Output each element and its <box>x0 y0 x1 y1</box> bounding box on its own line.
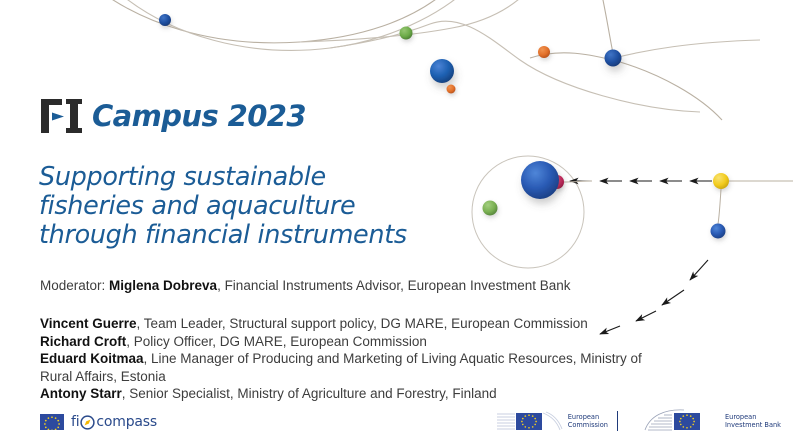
list-item: Eduard Koitmaa, Line Manager of Producin… <box>40 350 670 385</box>
speaker-role: , Policy Officer, DG MARE, European Comm… <box>126 334 427 349</box>
list-item: Antony Starr, Senior Specialist, Ministr… <box>40 385 670 403</box>
node-red-hero <box>550 175 564 189</box>
fi-triangle-logo-icon <box>40 96 88 136</box>
footer-divider <box>617 411 618 431</box>
decor-curve-right-top-out <box>614 40 760 58</box>
speaker-role: , Team Leader, Structural support policy… <box>137 316 588 331</box>
compass-icon <box>80 415 95 430</box>
node-orange-small-top <box>447 85 456 94</box>
presentation-slide: Campus 2023 Supporting sustainable fishe… <box>0 0 793 446</box>
node-blue-lower-right <box>711 224 726 239</box>
ec-emblem-icon <box>495 408 563 434</box>
list-item: Richard Croft, Policy Officer, DG MARE, … <box>40 333 670 351</box>
eu-flag-icon <box>40 414 64 430</box>
node-yellow-right <box>713 173 729 189</box>
node-green-orbit <box>483 201 498 216</box>
speaker-list: Vincent Guerre, Team Leader, Structural … <box>40 315 670 403</box>
node-blue-top-left <box>159 14 171 26</box>
moderator-line: Moderator: Miglena Dobreva, Financial In… <box>40 277 571 295</box>
speaker-name: Richard Croft <box>40 334 126 349</box>
decor-link-yellow-to-blue <box>718 189 721 224</box>
decor-curve-top-right <box>330 21 700 112</box>
page-title: Supporting sustainable fisheries and aqu… <box>39 163 469 250</box>
footer-institution-logos: European Commission <box>495 408 781 434</box>
moderator-prefix: Moderator: <box>40 278 109 293</box>
european-commission-logo: European Commission <box>495 408 618 434</box>
decor-curve-right-arc <box>530 53 722 120</box>
decor-curve-top-mid <box>300 0 534 42</box>
decor-link-hero-to-arrows <box>563 181 592 182</box>
node-blue-hero <box>521 161 559 199</box>
moderator-role: , Financial Instruments Advisor, Europea… <box>217 278 570 293</box>
decor-orbit-circle <box>472 156 584 268</box>
ficompass-text-compass: compass <box>96 415 157 429</box>
ec-label-line1: European <box>568 413 608 421</box>
speaker-role: , Senior Specialist, Ministry of Agricul… <box>122 386 497 401</box>
node-blue-right-top <box>605 50 622 67</box>
title-line-1: Supporting sustainable <box>39 163 469 192</box>
decor-curve-top-left-2 <box>118 0 472 50</box>
ficompass-logo: fi compass <box>40 414 157 430</box>
ficompass-text-fi: fi <box>71 415 79 429</box>
eib-label: European Investment Bank <box>725 413 781 429</box>
brand-logo: Campus 2023 <box>40 94 306 138</box>
eib-label-line2: Investment Bank <box>725 421 781 429</box>
title-line-2: fisheries and aquaculture <box>39 192 469 221</box>
speaker-name: Vincent Guerre <box>40 316 137 331</box>
speaker-name: Eduard Koitmaa <box>40 351 144 366</box>
node-green-top <box>400 27 413 40</box>
european-investment-bank-logo: European Investment Bank <box>644 408 781 434</box>
ec-label: European Commission <box>568 413 608 429</box>
moderator-name: Miglena Dobreva <box>109 278 217 293</box>
ficompass-wordmark: fi compass <box>71 415 157 430</box>
ec-label-line2: Commission <box>568 421 608 429</box>
brand-wordmark: Campus 2023 <box>92 102 306 131</box>
node-blue-large-top <box>430 59 454 83</box>
decor-curve-vertical-right <box>600 0 614 58</box>
title-line-3: through financial instruments <box>39 221 469 250</box>
decor-arrow-diag-3 <box>662 290 684 305</box>
speaker-name: Antony Starr <box>40 386 122 401</box>
node-orange-mid <box>538 46 550 58</box>
decor-arrow-diag-4 <box>690 260 708 280</box>
eib-emblem-icon <box>644 408 720 434</box>
decor-curve-top-left <box>96 0 452 43</box>
eib-label-line1: European <box>725 413 781 421</box>
list-item: Vincent Guerre, Team Leader, Structural … <box>40 315 670 333</box>
